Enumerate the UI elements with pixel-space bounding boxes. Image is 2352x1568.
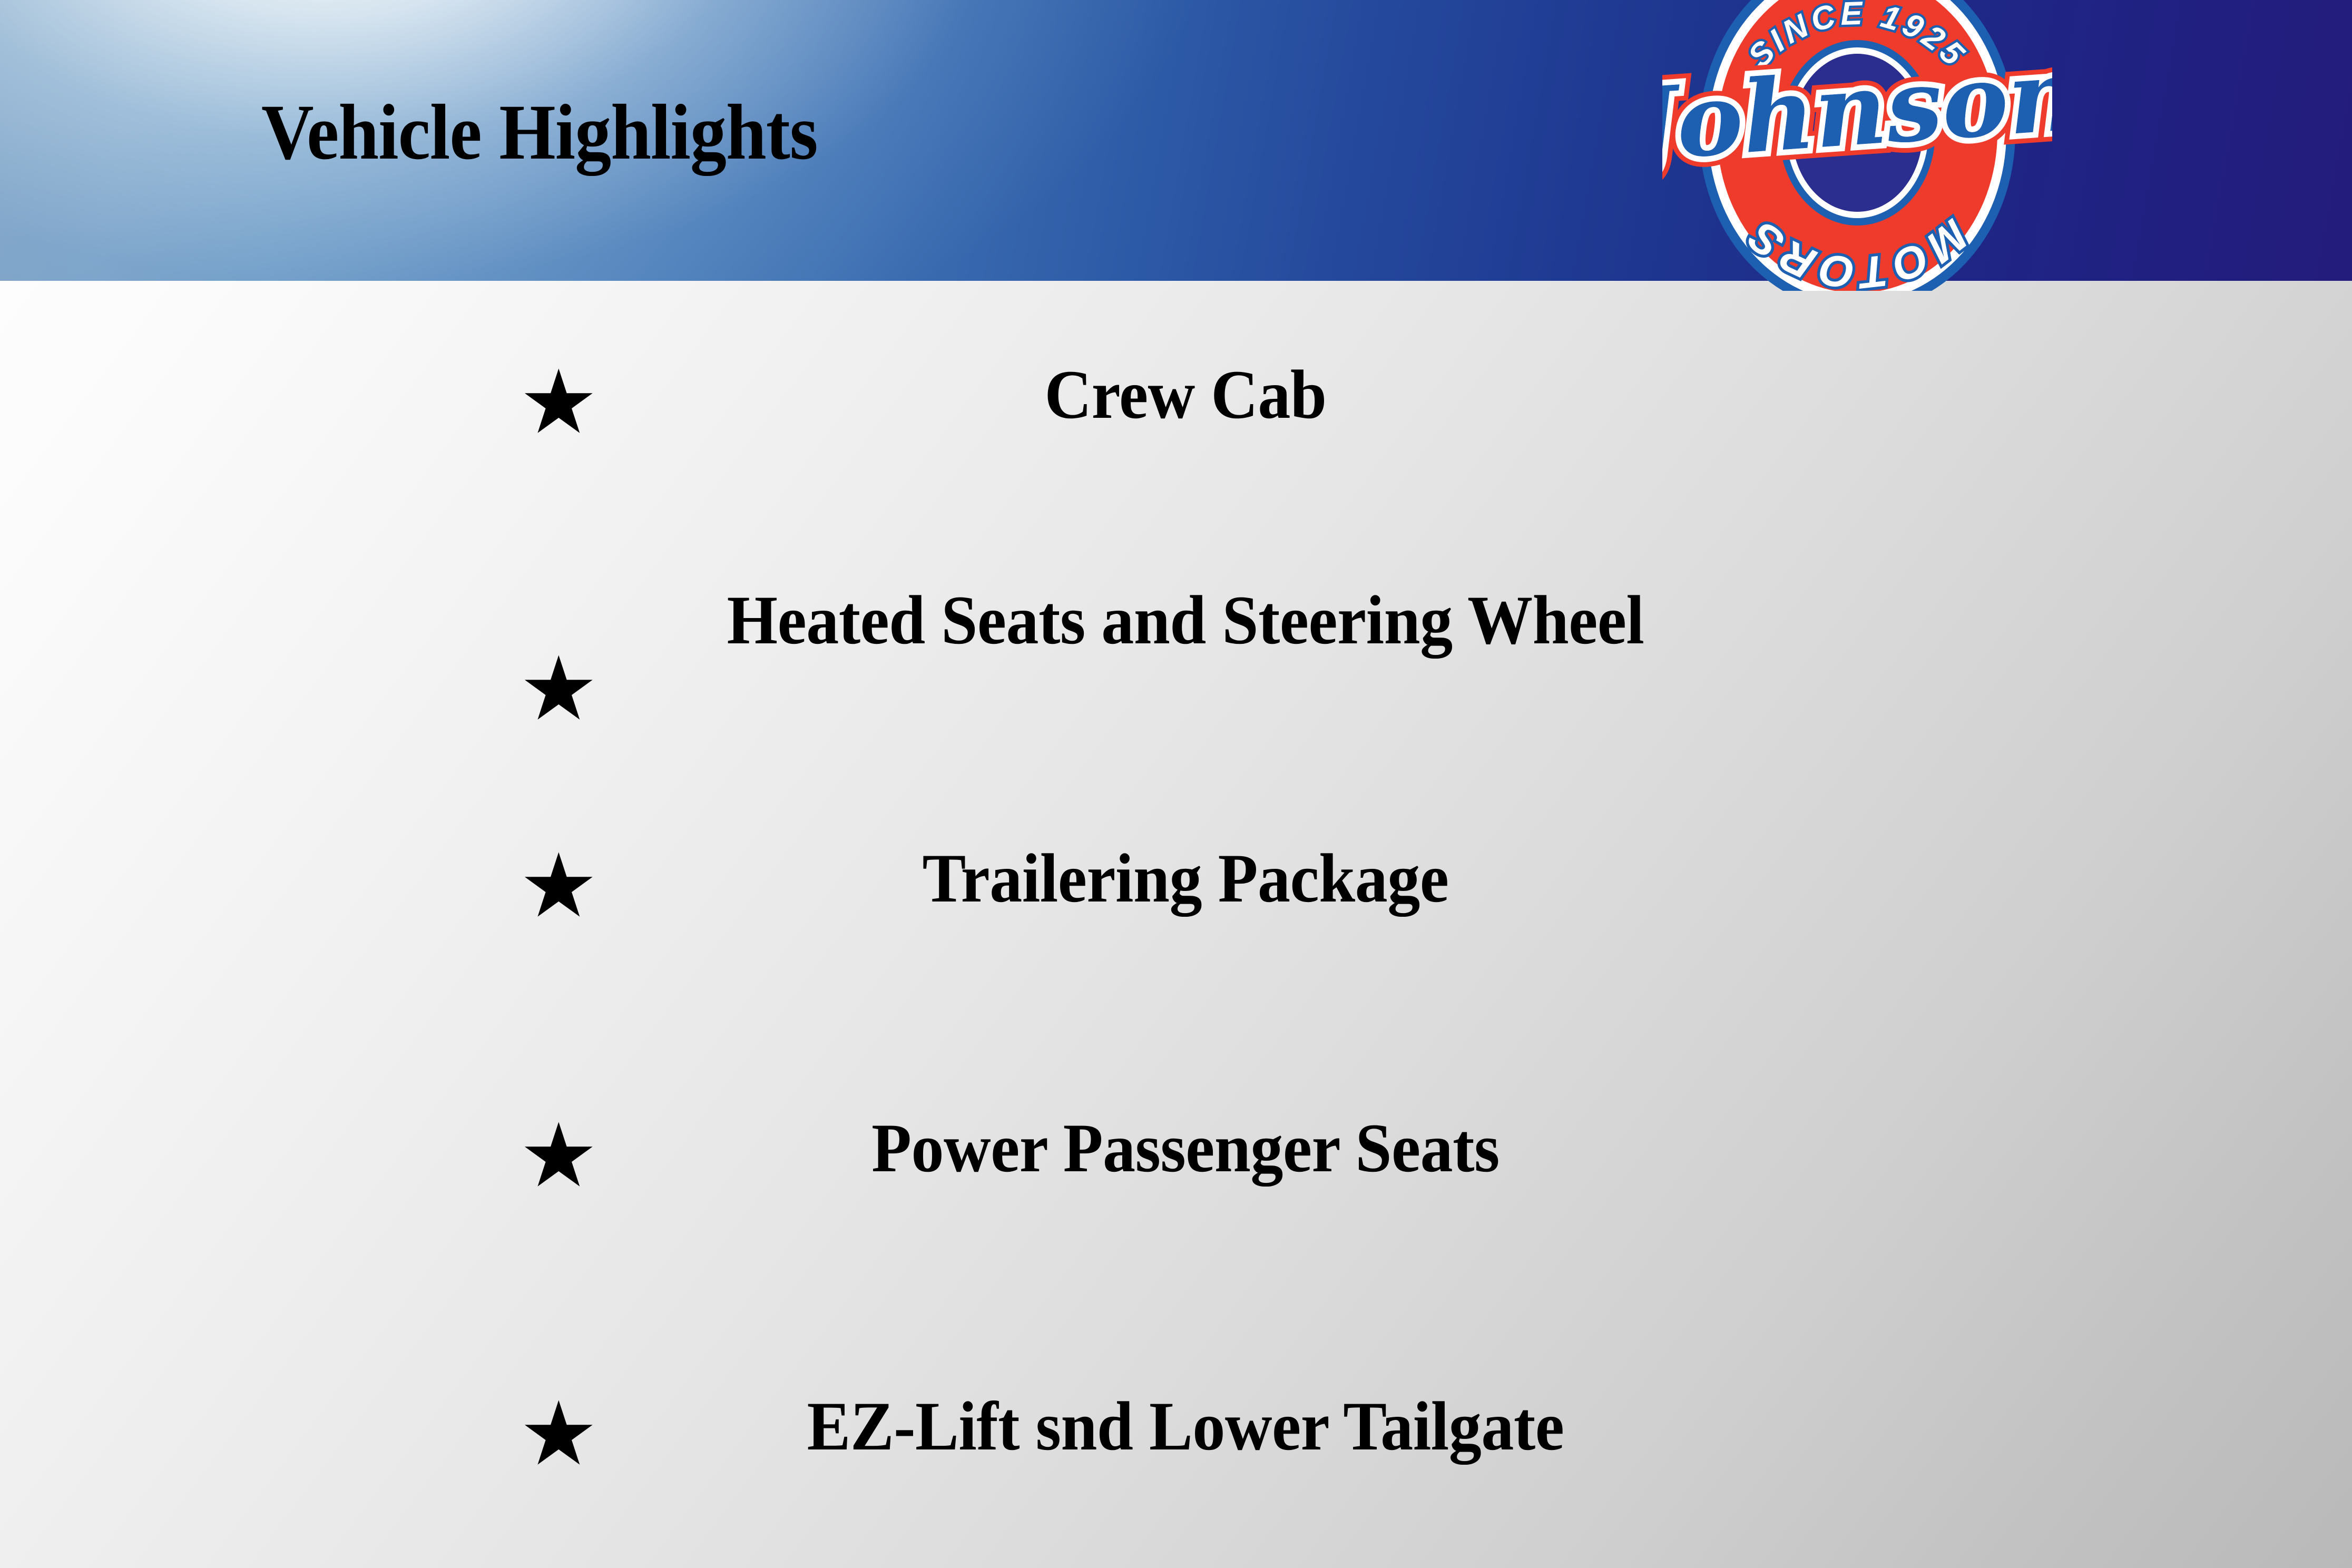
list-item-label: Power Passenger Seats	[636, 1101, 1736, 1195]
star-bullet-icon: ★	[519, 1111, 587, 1200]
star-bullet-icon: ★	[519, 1389, 587, 1478]
star-bullet-icon: ★	[519, 644, 587, 733]
star-bullet-icon: ★	[519, 841, 587, 930]
page-title: Vehicle Highlights	[261, 93, 818, 172]
list-item-label: Heated Seats and Steering Wheel	[636, 573, 1736, 668]
slide-canvas: Vehicle Highlights SINCE 1925	[0, 0, 2352, 1568]
johnson-motors-logo: SINCE 1925 MOTORS Johnson Johnson Johnso…	[1662, 0, 2052, 291]
vehicle-highlights-list: ★ Crew Cab ★ Heated Seats and Steering W…	[0, 281, 2352, 1568]
list-item-label: EZ-Lift snd Lower Tailgate	[636, 1379, 1736, 1474]
star-bullet-icon: ★	[519, 358, 587, 446]
list-item-label: Crew Cab	[636, 347, 1736, 442]
list-item-label: Trailering Package	[636, 831, 1736, 926]
